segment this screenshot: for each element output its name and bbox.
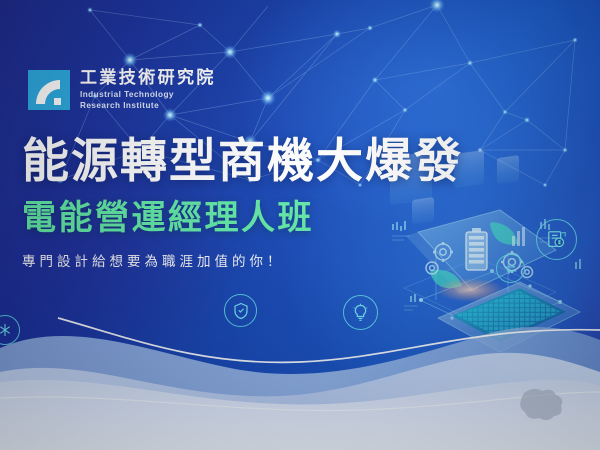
promotional-banner: 工業技術研究院 Industrial Technology Research I… <box>0 0 600 450</box>
vignette-overlay <box>0 0 600 450</box>
